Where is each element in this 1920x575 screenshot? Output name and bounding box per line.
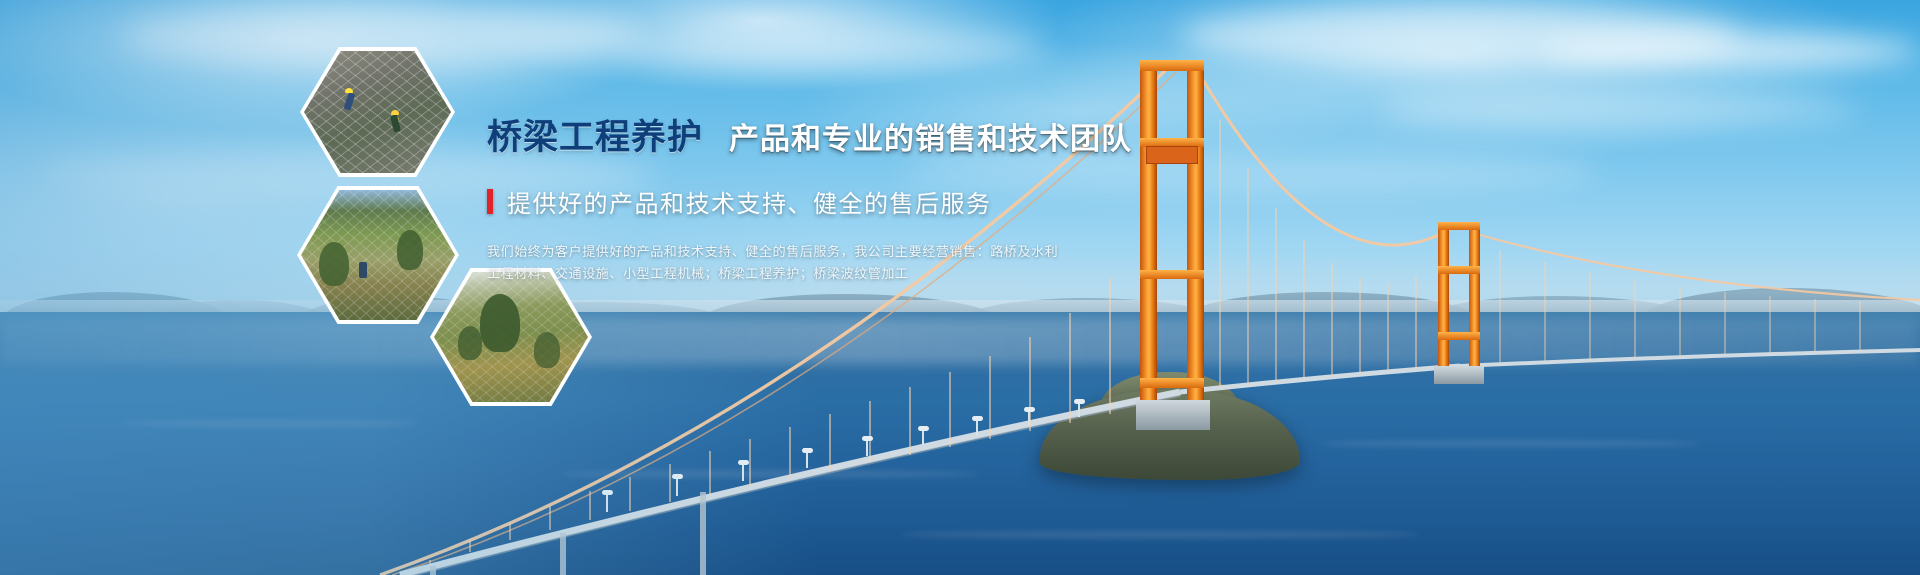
worker-figure (344, 92, 356, 110)
paragraph-line-2: 工程材料、交通设施、小型工程机械；桥梁工程养护；桥梁波纹管加工 (487, 263, 907, 285)
tree (534, 332, 560, 368)
banner-subheadline: 提供好的产品和技术支持、健全的售后服务 (487, 184, 1307, 219)
headline-secondary: 产品和专业的销售和技术团队 (729, 125, 1132, 155)
tree (480, 294, 520, 352)
tower-pier (1136, 400, 1210, 430)
paragraph-line-1: 我们始终为客户提供好的产品和技术支持、健全的售后服务，我公司主要经营销售：路桥及… (487, 241, 907, 263)
hero-banner: 桥梁工程养护 产品和专业的销售和技术团队 提供好的产品和技术支持、健全的售后服务… (0, 0, 1920, 575)
red-accent-bar (487, 189, 493, 214)
street-lamp (1028, 411, 1030, 425)
banner-copy: 桥梁工程养护 产品和专业的销售和技术团队 提供好的产品和技术支持、健全的售后服务… (487, 120, 1307, 285)
street-lamp (1078, 403, 1080, 417)
street-lamp (922, 430, 924, 445)
worker-figure (359, 262, 367, 278)
tree (397, 230, 423, 270)
banner-headline: 桥梁工程养护 产品和专业的销售和技术团队 (487, 120, 1307, 164)
helmet-icon (345, 88, 353, 93)
street-lamp (866, 440, 868, 456)
hex-photo-image (301, 190, 455, 320)
banner-paragraph: 我们始终为客户提供好的产品和技术支持、健全的售后服务，我公司主要经营销售：路桥及… (487, 241, 907, 285)
street-lamp (976, 420, 978, 435)
worker-figure (390, 114, 401, 132)
headline-primary: 桥梁工程养护 (487, 120, 703, 155)
tree (319, 242, 349, 286)
hex-photo-image (304, 51, 451, 173)
helmet-icon (391, 110, 399, 115)
hex-photo-image (434, 272, 588, 402)
tower-pier (1434, 366, 1484, 384)
bridge-tower-secondary (1438, 222, 1480, 372)
subheadline-text: 提供好的产品和技术支持、健全的售后服务 (507, 184, 992, 219)
tree (458, 326, 482, 360)
